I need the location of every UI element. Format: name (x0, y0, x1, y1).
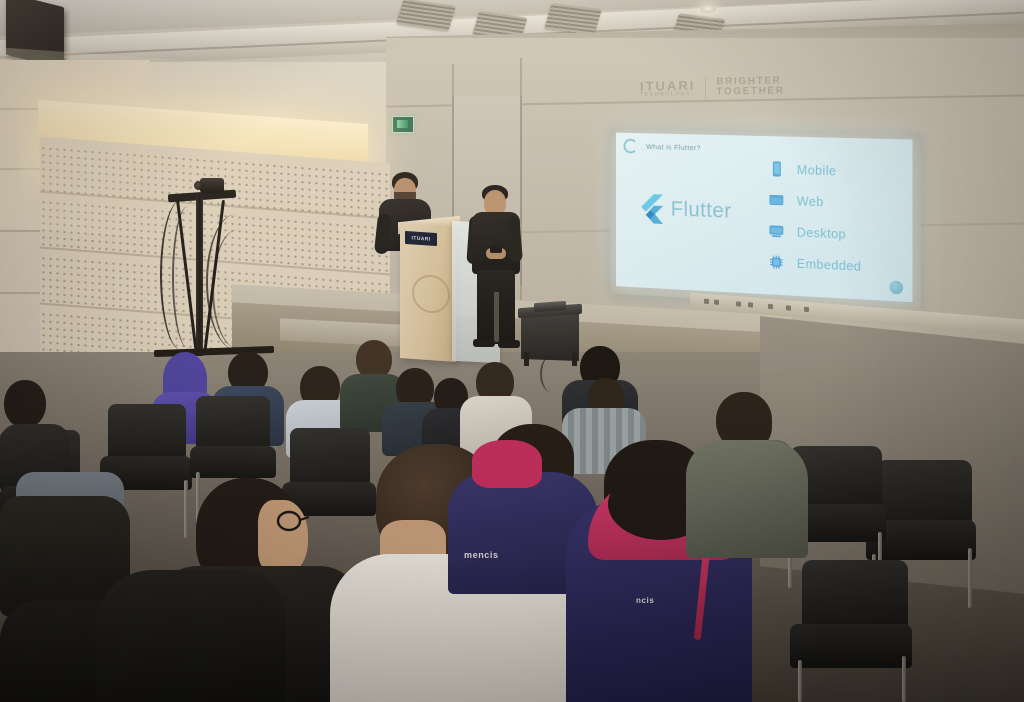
wall-outlet-icon (736, 301, 741, 306)
mobile-icon (768, 160, 785, 178)
embedded-icon (768, 253, 785, 271)
shoe (473, 339, 495, 347)
chair-seat (190, 446, 276, 478)
wall-outlet-icon (748, 302, 753, 307)
slide-title: What is Flutter? (646, 142, 701, 152)
podium-logo-plaque: ITUARI (405, 231, 437, 246)
leg-gap (494, 292, 499, 342)
chair-leg (902, 656, 906, 702)
chair-leg (798, 660, 802, 702)
chair-leg (968, 548, 972, 608)
head (4, 380, 46, 428)
venue-brand-sub: TECHNOLOGY (640, 92, 695, 98)
torso (686, 440, 808, 558)
glasses-icon (276, 508, 312, 534)
flutter-wordmark: Flutter (671, 198, 732, 224)
refresh-icon (624, 139, 638, 154)
platform-label: Web (797, 194, 824, 209)
venue-wall-logo: ITUARI TECHNOLOGY BRIGHTER TOGETHER (640, 68, 850, 106)
phone-clicker-icon (490, 246, 502, 253)
wall-outlet-icon (714, 299, 719, 304)
video-camera-icon (200, 178, 224, 193)
torso (96, 570, 286, 702)
ceiling-downlight (700, 4, 716, 13)
desktop-icon (768, 222, 785, 240)
hoodie-print-text: mencis (464, 550, 499, 560)
platform-label: Desktop (797, 225, 846, 241)
platform-item-embedded: Embedded (768, 253, 861, 275)
wall-outlet-icon (704, 299, 709, 304)
chair-seat (790, 624, 912, 668)
platform-label: Mobile (797, 163, 837, 178)
flutter-brand-block: Flutter (639, 194, 732, 227)
hood-lining (472, 440, 542, 488)
hoodie-print-text: ncis (636, 596, 654, 605)
slide-header: What is Flutter? (624, 139, 701, 156)
chair-back (802, 560, 908, 634)
flutter-logo (639, 194, 664, 224)
cable (212, 230, 262, 348)
conference-room-photo: ITUARI TECHNOLOGY BRIGHTER TOGETHER What… (0, 0, 1024, 702)
podium-plaque-text: ITUARI (411, 235, 430, 242)
cable (172, 206, 204, 348)
platform-item-web: Web (768, 191, 861, 212)
slide-watermark-logo (890, 280, 904, 294)
platform-label: Embedded (797, 256, 862, 273)
platform-item-desktop: Desktop (768, 222, 861, 243)
web-icon (768, 191, 785, 209)
cable (540, 356, 562, 392)
table-leg (524, 352, 529, 366)
logo-divider (705, 77, 706, 99)
venue-tagline-line2: TOGETHER (716, 86, 784, 97)
table-leg (572, 352, 577, 366)
exit-sign-icon (392, 116, 414, 133)
side-table (521, 311, 579, 361)
chair-back (290, 428, 370, 490)
shoe (498, 340, 520, 348)
chair-back (108, 404, 186, 464)
presentation-slide: What is Flutter? Flutter (616, 133, 912, 303)
wall-outlet-icon (804, 307, 809, 312)
platform-item-mobile: Mobile (768, 160, 861, 180)
wall-outlet-icon (768, 304, 773, 309)
platform-list: Mobile Web (768, 160, 861, 275)
chair-leg (184, 480, 188, 538)
projection-screen: What is Flutter? Flutter (610, 127, 920, 311)
wall-outlet-icon (786, 305, 791, 310)
camera-lens-icon (194, 181, 203, 190)
